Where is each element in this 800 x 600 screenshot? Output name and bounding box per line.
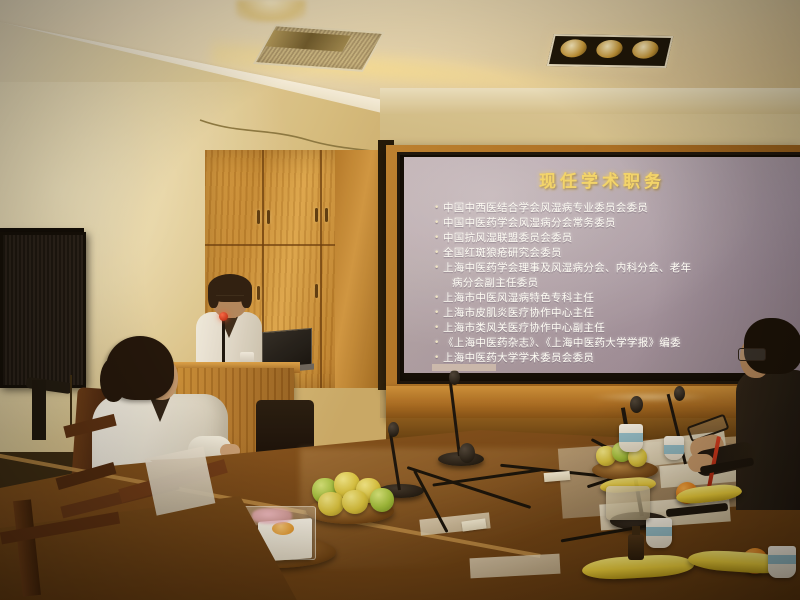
bullet-icon: • bbox=[434, 306, 443, 320]
conference-room-photo: 现任学术职务 •中国中西医结合学会风湿病专业委员会委员 •中国中医药学会风湿病分… bbox=[0, 0, 800, 600]
paper-cup[interactable] bbox=[646, 518, 672, 548]
screen-bottom-label bbox=[432, 364, 496, 371]
bullet-text: 全国红斑狼疮研究会委员 bbox=[443, 246, 562, 260]
paper-cup[interactable] bbox=[768, 546, 796, 578]
bullet-icon: • bbox=[434, 246, 443, 260]
cabinet-handle[interactable] bbox=[315, 208, 318, 222]
microphone-gooseneck bbox=[389, 432, 401, 490]
slide-bullet-list: •中国中西医结合学会风湿病专业委员会委员 •中国中医药学会风湿病分会常务委员 •… bbox=[434, 201, 790, 366]
speaker-cable bbox=[70, 375, 72, 425]
ceiling-lamp-glow bbox=[236, 0, 306, 22]
pear bbox=[370, 488, 394, 512]
bullet-icon: • bbox=[434, 201, 443, 215]
bullet-text: 《上海中医药杂志》、《上海中医药大学学报》编委 bbox=[443, 336, 681, 350]
cake-pink-highlight bbox=[252, 508, 292, 524]
cabinet-handle[interactable] bbox=[325, 208, 328, 222]
bullet-icon: • bbox=[434, 261, 443, 275]
cabinet-handle[interactable] bbox=[315, 284, 318, 298]
bullet-icon: • bbox=[434, 336, 443, 350]
microphone-icon[interactable] bbox=[388, 422, 399, 437]
list-item: •上海中医药学会理事及风湿病分会、内科分会、老年 bbox=[434, 261, 790, 275]
bullet-text: 中国中医药学会风湿病分会常务委员 bbox=[443, 216, 616, 230]
attendee-hair-back bbox=[100, 358, 126, 402]
list-item: •中国中医药学会风湿病分会常务委员 bbox=[434, 216, 790, 230]
slide-title: 现任学术职务 bbox=[404, 167, 800, 192]
recessed-spotlight-icon bbox=[547, 34, 674, 68]
snack-package[interactable] bbox=[606, 486, 650, 520]
microphone-icon[interactable] bbox=[459, 443, 475, 463]
microphone-icon[interactable] bbox=[630, 396, 643, 413]
bottle[interactable] bbox=[628, 534, 644, 560]
microphone-icon[interactable] bbox=[219, 312, 228, 321]
attendee-coat-foreground bbox=[145, 446, 216, 515]
bullet-text: 上海市皮肌炎医疗协作中心主任 bbox=[443, 306, 594, 320]
list-item: •上海市皮肌炎医疗协作中心主任 bbox=[434, 306, 790, 320]
bullet-text: 上海市类风关医疗协作中心副主任 bbox=[443, 321, 605, 335]
loudspeaker-icon bbox=[0, 232, 86, 388]
bullet-icon: • bbox=[434, 351, 443, 365]
microphone-unit[interactable] bbox=[660, 392, 730, 472]
speaker-stand bbox=[32, 380, 46, 440]
list-item: •上海中医药大学学术委员会委员 bbox=[434, 351, 790, 365]
right-wall-upper-strip bbox=[380, 88, 800, 114]
list-item: •上海市中医风湿病特色专科主任 bbox=[434, 291, 790, 305]
bullet-text: 中国中西医结合学会风湿病专业委员会委员 bbox=[443, 201, 648, 215]
paper-cup[interactable] bbox=[619, 424, 643, 452]
bullet-text: 病分会副主任委员 bbox=[443, 276, 538, 290]
list-item: •中国抗风湿联盟委员会委员 bbox=[434, 231, 790, 245]
list-item-continuation: 病分会副主任委员 bbox=[434, 276, 790, 290]
cabinet-handle[interactable] bbox=[267, 210, 270, 224]
list-item: •《上海中医药杂志》、《上海中医药大学学报》编委 bbox=[434, 336, 790, 350]
pear bbox=[342, 490, 368, 514]
microphone-icon[interactable] bbox=[674, 386, 685, 401]
projection-screen: 现任学术职务 •中国中西医结合学会风湿病专业委员会委员 •中国中医药学会风湿病分… bbox=[404, 157, 800, 373]
microphone-icon[interactable] bbox=[449, 370, 460, 385]
list-item: •上海市类风关医疗协作中心副主任 bbox=[434, 321, 790, 335]
list-item: •中国中西医结合学会风湿病专业委员会委员 bbox=[434, 201, 790, 215]
cabinet-handle[interactable] bbox=[257, 210, 260, 224]
cabinet-seam bbox=[320, 150, 322, 388]
attendee-jacket bbox=[736, 370, 800, 510]
bullet-text: 上海中医药大学学术委员会委员 bbox=[443, 351, 594, 365]
bullet-icon: • bbox=[434, 321, 443, 335]
bullet-text: 中国抗风湿联盟委员会委员 bbox=[443, 231, 573, 245]
list-item: •全国红斑狼疮研究会委员 bbox=[434, 246, 790, 260]
bullet-icon: • bbox=[434, 291, 443, 305]
bullet-icon: • bbox=[434, 216, 443, 230]
bullet-icon: • bbox=[434, 231, 443, 245]
microphone-gooseneck bbox=[449, 382, 461, 456]
bullet-text: 上海中医药学会理事及风湿病分会、内科分会、老年 bbox=[443, 261, 691, 275]
paper-cup[interactable] bbox=[664, 436, 684, 460]
presenter-glasses-icon bbox=[216, 295, 244, 302]
bullet-text: 上海市中医风湿病特色专科主任 bbox=[443, 291, 594, 305]
